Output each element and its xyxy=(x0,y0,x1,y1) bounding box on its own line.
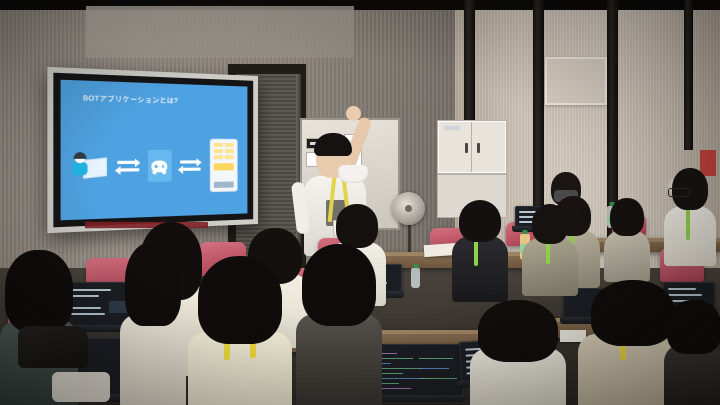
app-cell xyxy=(224,143,233,147)
app-cell xyxy=(224,155,233,159)
arrow-head-left xyxy=(115,166,121,175)
wall-strip-4 xyxy=(684,0,693,150)
classroom-photo: BOTアプリケーションとは? xyxy=(0,0,720,405)
student xyxy=(452,200,508,296)
app-summary-row xyxy=(213,163,233,170)
student-head xyxy=(302,244,376,326)
arrow2-shaft-bottom xyxy=(183,168,201,171)
student-head xyxy=(591,280,675,346)
slide-title: BOTアプリケーションとは? xyxy=(83,92,178,105)
bottle-cap xyxy=(413,264,418,268)
presenter-hand xyxy=(346,106,361,121)
student-torso xyxy=(664,206,716,266)
arrow2-head-right xyxy=(197,158,202,166)
cabinet-handle-left[interactable] xyxy=(465,143,468,153)
student xyxy=(470,300,566,405)
app-row-2 xyxy=(213,149,233,153)
student xyxy=(120,242,186,405)
student-torso xyxy=(296,314,382,405)
student xyxy=(296,244,382,405)
student-head xyxy=(459,200,501,242)
student xyxy=(522,204,578,290)
cabinet-door-split xyxy=(471,122,472,172)
lanyard xyxy=(686,206,690,240)
discord-face xyxy=(152,160,168,172)
student xyxy=(664,168,716,260)
app-submit-button xyxy=(213,182,233,189)
student-torso xyxy=(522,238,578,296)
cabinet-label xyxy=(444,126,460,130)
glasses-icon xyxy=(668,188,690,197)
app-row-3 xyxy=(213,155,233,159)
white-cloth xyxy=(52,372,110,402)
slide-user-laptop-icon xyxy=(73,152,108,181)
presenter-hair xyxy=(314,133,352,156)
discord-ear-left xyxy=(153,170,157,174)
slide-diagram xyxy=(73,139,237,195)
circulator-fan-icon xyxy=(392,192,425,225)
student xyxy=(664,300,720,405)
student-head xyxy=(478,300,558,362)
student-head xyxy=(336,204,378,248)
presentation-slide: BOTアプリケーションとは? xyxy=(61,80,248,221)
app-cell xyxy=(213,143,222,147)
face-mask-icon xyxy=(338,165,368,183)
student-head xyxy=(667,300,720,354)
student xyxy=(604,198,650,272)
app-cell xyxy=(213,155,222,159)
student-head xyxy=(125,242,181,326)
student-torso xyxy=(120,314,186,405)
app-cell xyxy=(224,149,233,153)
arrow-shaft-bottom xyxy=(120,168,139,171)
arrow-shaft-top xyxy=(117,161,136,164)
student-head xyxy=(532,204,568,244)
discord-ear-right xyxy=(163,170,167,174)
app-cell xyxy=(213,149,222,153)
wall-framed-panel xyxy=(545,57,607,105)
student-head xyxy=(5,250,73,332)
student xyxy=(188,256,292,405)
slide-exchange-arrows-left-icon xyxy=(116,155,140,177)
cabinet-upper[interactable] xyxy=(437,120,507,174)
slide-discord-icon xyxy=(148,150,172,182)
student-torso xyxy=(604,230,650,282)
arrow-head-right xyxy=(135,158,140,167)
slide-app-mockup-icon xyxy=(209,139,237,192)
student-torso xyxy=(452,236,508,302)
fan-hub xyxy=(405,205,412,212)
projection-screen: BOTアプリケーションとは? xyxy=(47,67,258,233)
app-row-1 xyxy=(213,143,233,147)
wall-upper-panel xyxy=(86,6,354,58)
student-head xyxy=(198,256,282,344)
slide-person-hair xyxy=(74,152,87,159)
slide-exchange-arrows-right-icon xyxy=(179,155,202,176)
drink-bottle[interactable] xyxy=(411,268,420,288)
student-head xyxy=(610,198,644,236)
slide-person-body xyxy=(73,162,88,175)
arrow2-shaft-top xyxy=(180,160,198,163)
cabinet-handle-right[interactable] xyxy=(477,143,480,153)
arrow2-head-left xyxy=(178,165,183,173)
backpack[interactable] xyxy=(18,326,88,368)
